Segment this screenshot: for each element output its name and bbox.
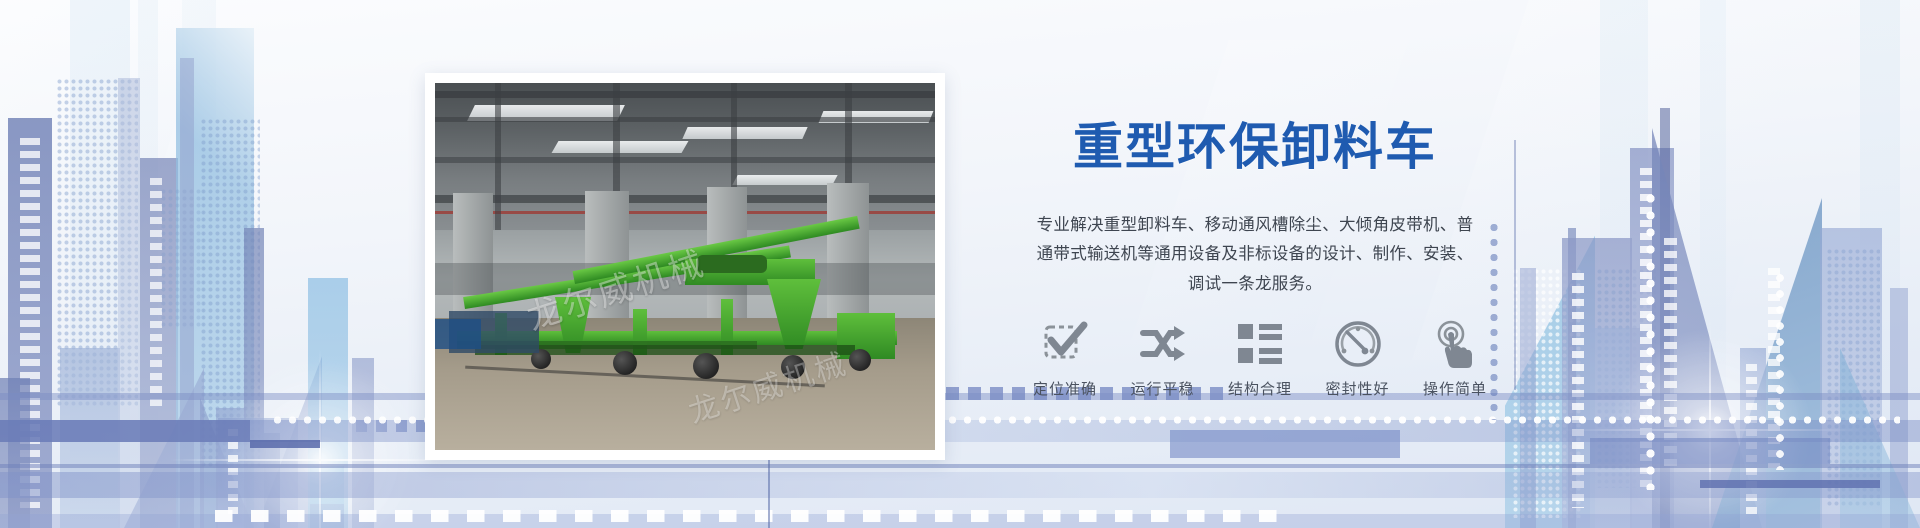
description-line-2: 通带式输送机等通用设备及非标设备的设计、制作、安装、 [1037,245,1474,263]
feature-list: 定位准确 运行平稳 [1020,318,1500,399]
feature-label: 密封性好 [1313,378,1403,399]
feature-item-smooth-operation[interactable]: 运行平稳 [1118,318,1208,399]
banner-description: 专业解决重型卸料车、移动通风槽除尘、大倾角皮带机、普 通带式输送机等通用设备及非… [990,211,1520,299]
hand-tap-icon [1410,318,1500,370]
feature-label: 运行平稳 [1118,378,1208,399]
feature-label: 结构合理 [1215,378,1305,399]
product-photo-frame: 龙尔威机械 龙尔威机械 [425,73,945,460]
page-title: 重型环保卸料车 [990,120,1520,175]
feature-item-easy-operation[interactable]: 操作简单 [1410,318,1500,399]
list-blocks-icon [1215,318,1305,370]
feature-item-positioning[interactable]: 定位准确 [1020,318,1110,399]
background-decoration [0,0,1920,528]
product-photo: 龙尔威机械 龙尔威机械 [435,83,935,450]
feature-item-sealing[interactable]: 密封性好 [1313,318,1403,399]
shuffle-arrows-icon [1118,318,1208,370]
feature-label: 定位准确 [1020,378,1110,399]
hero-banner: 龙尔威机械 龙尔威机械 重型环保卸料车 专业解决重型卸料车、移动通风槽除尘、大倾… [0,0,1920,528]
description-line-3: 调试一条龙服务。 [1188,275,1322,293]
feature-item-structure[interactable]: 结构合理 [1215,318,1305,399]
square-row-left [356,420,427,432]
feature-label: 操作简单 [1410,378,1500,399]
check-in-dashed-box-icon [1020,318,1110,370]
gauge-dial-icon [1313,318,1403,370]
description-line-1: 专业解决重型卸料车、移动通风槽除尘、大倾角皮带机、普 [1037,216,1474,234]
banner-content: 重型环保卸料车 专业解决重型卸料车、移动通风槽除尘、大倾角皮带机、普 通带式输送… [990,120,1520,299]
